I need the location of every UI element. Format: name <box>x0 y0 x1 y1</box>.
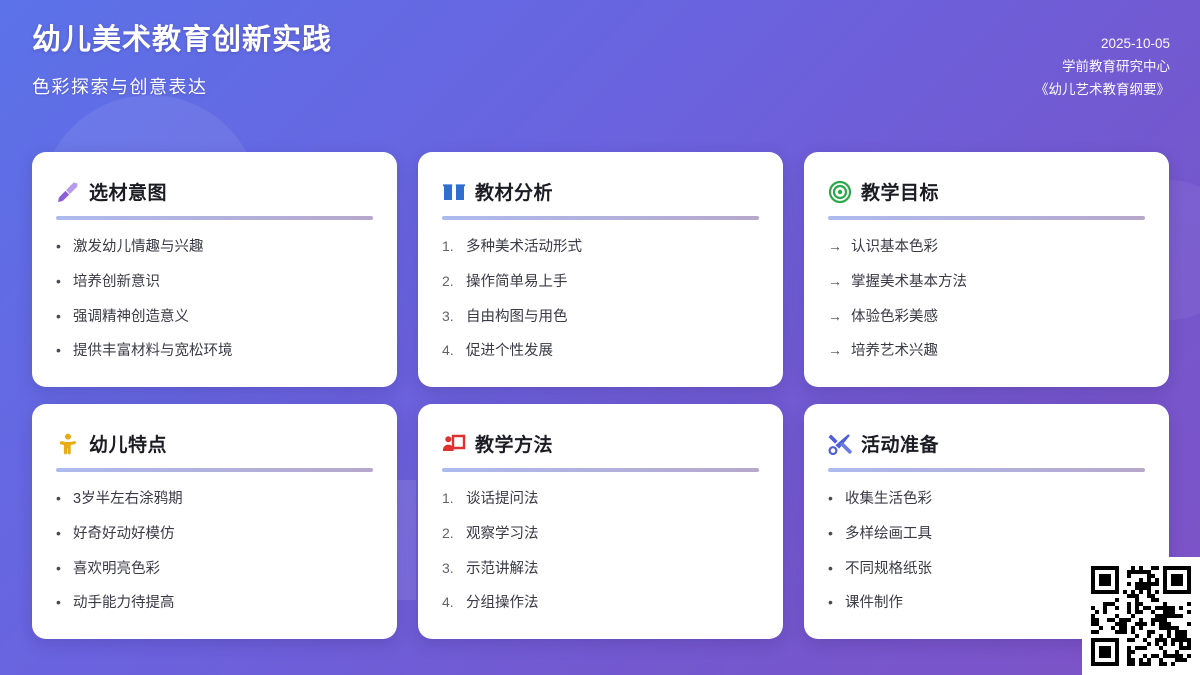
header-reference: 《幼儿艺术教育纲要》 <box>1035 78 1170 101</box>
child-icon <box>56 432 80 456</box>
list-marker: 4. <box>442 340 457 361</box>
list-item: •好奇好动好模仿 <box>56 523 373 546</box>
list-marker: • <box>828 592 836 613</box>
card-title: 选材意图 <box>89 178 167 205</box>
card-divider <box>828 468 1145 472</box>
card-divider <box>442 468 759 472</box>
card-jiaoxue-mubiao[interactable]: 教学目标 →认识基本色彩 →掌握美术基本方法 →体验色彩美感 →培养艺术兴趣 <box>804 152 1169 387</box>
list-item: •收集生活色彩 <box>828 488 1145 511</box>
list-item-text: 认识基本色彩 <box>851 237 938 259</box>
list-item: →培养艺术兴趣 <box>828 340 1145 363</box>
card-divider <box>442 216 759 220</box>
list-marker: 2. <box>442 271 457 292</box>
card-list: 1.多种美术活动形式 2.操作简单易上手 3.自由构图与用色 4.促进个性发展 <box>442 236 759 363</box>
card-title: 教材分析 <box>475 178 553 205</box>
list-item: 2.操作简单易上手 <box>442 271 759 294</box>
list-marker: • <box>828 558 836 579</box>
list-item-text: 体验色彩美感 <box>851 307 938 329</box>
card-header: 幼儿特点 <box>56 430 373 457</box>
list-item-text: 3岁半左右涂鸦期 <box>73 489 183 511</box>
list-item-text: 好奇好动好模仿 <box>73 524 175 546</box>
list-marker: • <box>828 523 836 544</box>
header-date: 2025-10-05 <box>1035 32 1170 55</box>
card-header: 教学目标 <box>828 178 1145 205</box>
list-item-text: 培养创新意识 <box>73 272 160 294</box>
list-item: →掌握美术基本方法 <box>828 271 1145 294</box>
header-left-group: 幼儿美术教育创新实践 色彩探索与创意表达 <box>32 22 332 99</box>
list-marker: → <box>828 271 842 292</box>
card-xuancai-yitu[interactable]: 选材意图 •激发幼儿情趣与兴趣 •培养创新意识 •强调精神创造意义 •提供丰富材… <box>32 152 397 387</box>
list-item: 4.分组操作法 <box>442 592 759 615</box>
list-item: →体验色彩美感 <box>828 306 1145 329</box>
open-book-icon <box>442 180 466 204</box>
list-item: •提供丰富材料与宽松环境 <box>56 340 373 363</box>
header-meta-group: 2025-10-05 学前教育研究中心 《幼儿艺术教育纲要》 <box>1035 22 1170 102</box>
card-header: 教学方法 <box>442 430 759 457</box>
list-item-text: 强调精神创造意义 <box>73 307 189 329</box>
list-marker: • <box>828 488 836 509</box>
card-grid: 选材意图 •激发幼儿情趣与兴趣 •培养创新意识 •强调精神创造意义 •提供丰富材… <box>32 152 1168 639</box>
teacher-presentation-icon <box>442 432 466 456</box>
qr-code-image <box>1091 566 1191 666</box>
list-marker: 4. <box>442 592 457 613</box>
card-list: →认识基本色彩 →掌握美术基本方法 →体验色彩美感 →培养艺术兴趣 <box>828 236 1145 363</box>
list-item-text: 多种美术活动形式 <box>466 237 582 259</box>
paintbrush-icon <box>56 180 80 204</box>
list-item: 1.多种美术活动形式 <box>442 236 759 259</box>
card-jiaocai-fenxi[interactable]: 教材分析 1.多种美术活动形式 2.操作简单易上手 3.自由构图与用色 4.促进… <box>418 152 783 387</box>
list-item: 3.示范讲解法 <box>442 558 759 581</box>
list-item-text: 自由构图与用色 <box>466 307 568 329</box>
list-item-text: 培养艺术兴趣 <box>851 341 938 363</box>
card-list: •激发幼儿情趣与兴趣 •培养创新意识 •强调精神创造意义 •提供丰富材料与宽松环… <box>56 236 373 363</box>
list-item-text: 操作简单易上手 <box>466 272 568 294</box>
card-list: 1.谈话提问法 2.观察学习法 3.示范讲解法 4.分组操作法 <box>442 488 759 615</box>
card-title: 教学方法 <box>475 430 553 457</box>
page-subtitle: 色彩探索与创意表达 <box>32 73 332 99</box>
list-item-text: 收集生活色彩 <box>845 489 932 511</box>
card-header: 选材意图 <box>56 178 373 205</box>
list-marker: • <box>56 306 64 327</box>
card-header: 活动准备 <box>828 430 1145 457</box>
list-item-text: 提供丰富材料与宽松环境 <box>73 341 233 363</box>
list-item: •喜欢明亮色彩 <box>56 558 373 581</box>
list-marker: • <box>56 271 64 292</box>
card-divider <box>828 216 1145 220</box>
list-marker: → <box>828 340 842 361</box>
tools-icon <box>828 432 852 456</box>
list-marker: • <box>56 558 64 579</box>
list-marker: 3. <box>442 306 457 327</box>
list-item: •多样绘画工具 <box>828 523 1145 546</box>
list-item: →认识基本色彩 <box>828 236 1145 259</box>
list-item: •3岁半左右涂鸦期 <box>56 488 373 511</box>
target-icon <box>828 180 852 204</box>
list-item: 1.谈话提问法 <box>442 488 759 511</box>
list-marker: 2. <box>442 523 457 544</box>
card-title: 活动准备 <box>861 430 939 457</box>
header-organization: 学前教育研究中心 <box>1035 55 1170 78</box>
slide-header: 幼儿美术教育创新实践 色彩探索与创意表达 2025-10-05 学前教育研究中心… <box>0 0 1200 132</box>
list-marker: 1. <box>442 488 457 509</box>
list-item-text: 示范讲解法 <box>466 559 539 581</box>
list-marker: 1. <box>442 236 457 257</box>
card-jiaoxue-fangfa[interactable]: 教学方法 1.谈话提问法 2.观察学习法 3.示范讲解法 4.分组操作法 <box>418 404 783 639</box>
page-title: 幼儿美术教育创新实践 <box>32 22 332 60</box>
list-item: •激发幼儿情趣与兴趣 <box>56 236 373 259</box>
card-list: •3岁半左右涂鸦期 •好奇好动好模仿 •喜欢明亮色彩 •动手能力待提高 <box>56 488 373 615</box>
card-header: 教材分析 <box>442 178 759 205</box>
card-divider <box>56 216 373 220</box>
list-item-text: 掌握美术基本方法 <box>851 272 967 294</box>
list-item-text: 动手能力待提高 <box>73 593 175 615</box>
list-marker: → <box>828 236 842 257</box>
list-item-text: 激发幼儿情趣与兴趣 <box>73 237 204 259</box>
card-title: 教学目标 <box>861 178 939 205</box>
list-item-text: 不同规格纸张 <box>845 559 932 581</box>
list-item-text: 观察学习法 <box>466 524 539 546</box>
list-item-text: 课件制作 <box>845 593 903 615</box>
list-marker: • <box>56 488 64 509</box>
card-youer-tedian[interactable]: 幼儿特点 •3岁半左右涂鸦期 •好奇好动好模仿 •喜欢明亮色彩 •动手能力待提高 <box>32 404 397 639</box>
list-marker: 3. <box>442 558 457 579</box>
card-title: 幼儿特点 <box>89 430 167 457</box>
list-item-text: 谈话提问法 <box>466 489 539 511</box>
list-marker: • <box>56 523 64 544</box>
list-item-text: 多样绘画工具 <box>845 524 932 546</box>
card-divider <box>56 468 373 472</box>
list-item-text: 促进个性发展 <box>466 341 553 363</box>
list-marker: • <box>56 340 64 361</box>
list-marker: • <box>56 592 64 613</box>
list-item: 3.自由构图与用色 <box>442 306 759 329</box>
list-marker: → <box>828 306 842 327</box>
qr-code[interactable] <box>1082 557 1200 675</box>
list-item-text: 分组操作法 <box>466 593 539 615</box>
list-item: •动手能力待提高 <box>56 592 373 615</box>
list-item-text: 喜欢明亮色彩 <box>73 559 160 581</box>
list-item: 4.促进个性发展 <box>442 340 759 363</box>
list-marker: • <box>56 236 64 257</box>
list-item: 2.观察学习法 <box>442 523 759 546</box>
list-item: •强调精神创造意义 <box>56 306 373 329</box>
list-item: •培养创新意识 <box>56 271 373 294</box>
